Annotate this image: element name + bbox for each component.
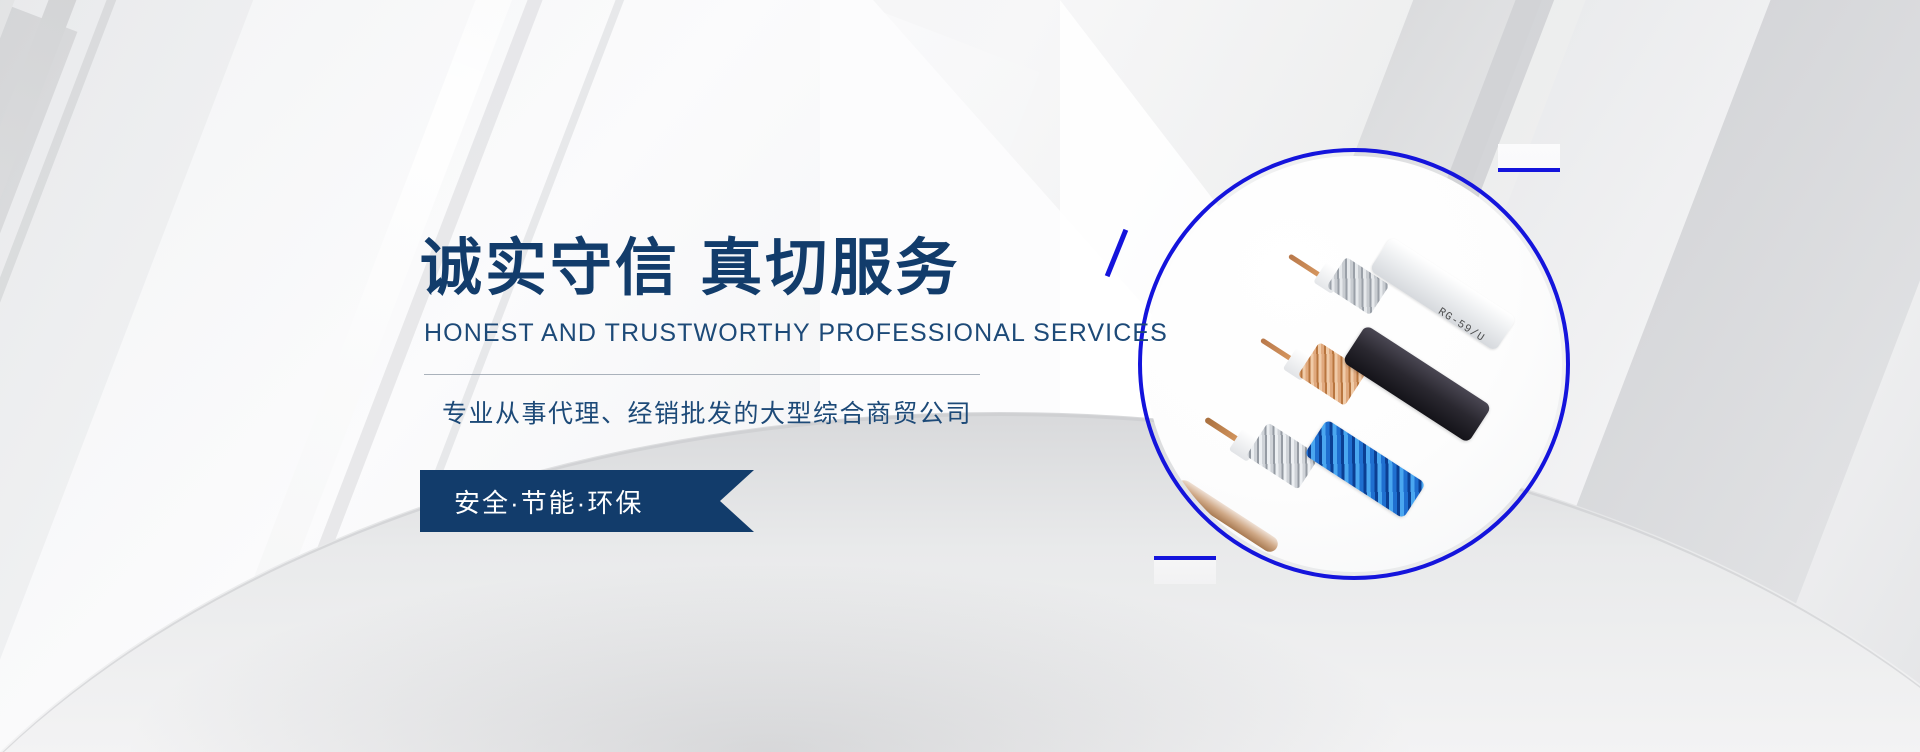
medallion-ring-tick-bottom (1154, 556, 1216, 560)
medallion-ring-tick-top (1498, 168, 1560, 172)
banner-description: 专业从事代理、经销批发的大型综合商贸公司 (442, 394, 1040, 430)
banner-subheadline: HONEST AND TRUSTWORTHY PROFESSIONAL SERV… (424, 319, 1040, 348)
ribbon-arrow-icon (720, 470, 754, 532)
medallion-ring-gap-bottom (1154, 558, 1216, 584)
hero-banner: RG-59/U 诚实守信 真切服务 HONEST AND TRUSTWORTHY… (0, 0, 1920, 752)
banner-text-block: 诚实守信 真切服务 HONEST AND TRUSTWORTHY PROFESS… (420, 236, 1040, 532)
background-floor-shadow (120, 562, 1420, 752)
medallion-ring-circle (1138, 148, 1570, 580)
medallion-ring-gap-top (1498, 144, 1560, 170)
banner-divider-rule (424, 374, 980, 375)
banner-tagline-ribbon: 安全·节能·环保 (420, 470, 720, 532)
banner-headline: 诚实守信 真切服务 (420, 236, 1040, 301)
banner-tagline-label: 安全·节能·环保 (420, 483, 643, 520)
product-medallion: RG-59/U (1138, 148, 1570, 580)
